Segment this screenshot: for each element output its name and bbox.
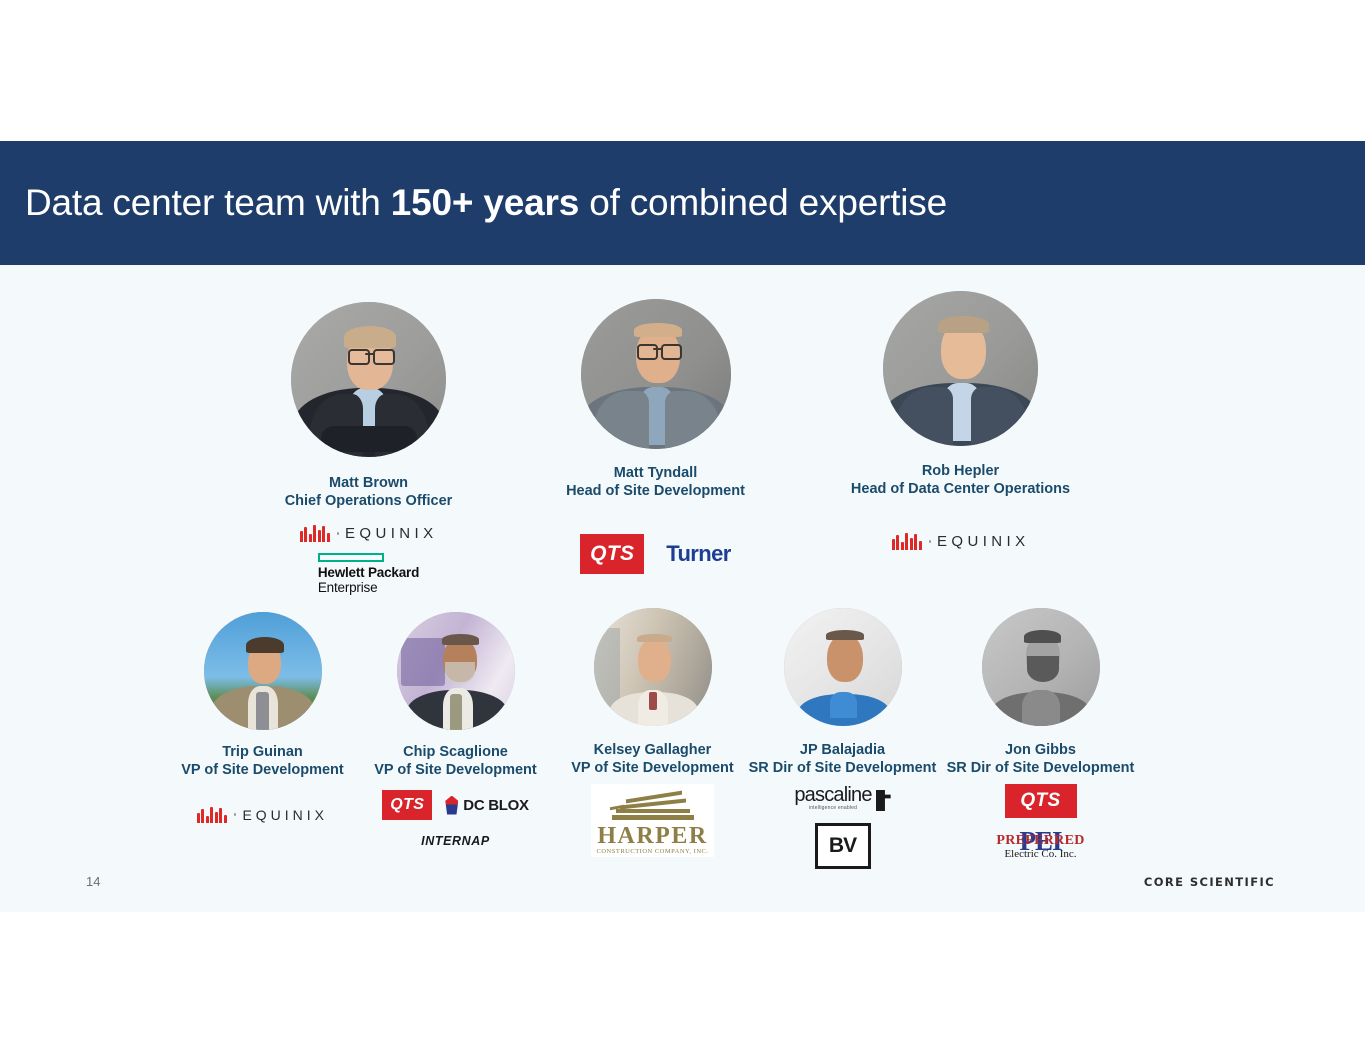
person-role: Chief Operations Officer: [256, 493, 481, 511]
qts-logo: QTS: [580, 534, 644, 574]
logo-row: INTERNAP: [421, 834, 490, 848]
equinix-dot-icon: [337, 532, 340, 535]
turner-logo: Turner: [666, 541, 730, 567]
equinix-wordmark: EQUINIX: [345, 525, 437, 542]
harper-subtext: CONSTRUCTION COMPANY, INC.: [597, 848, 709, 855]
avatar-matt-brown: [291, 302, 446, 457]
logo-row: QTS Turner: [580, 534, 730, 574]
page-title: Data center team with 150+ years of comb…: [0, 182, 947, 224]
hpe-line2: Enterprise: [318, 581, 419, 596]
logo-group-chip-scaglione: QTS DC BLOX INTERNAP: [343, 790, 568, 848]
equinix-logo: EQUINIX: [197, 806, 328, 823]
logo-row: EQUINIX: [300, 525, 438, 542]
logo-row: BV: [815, 823, 871, 869]
bv-wordmark: BV: [829, 834, 856, 858]
slide: Data center team with 150+ years of comb…: [0, 0, 1365, 1055]
logo-group-matt-tyndall: QTS Turner: [543, 534, 768, 574]
harper-building-icon: [610, 787, 696, 823]
hpe-line1: Hewlett Packard: [318, 566, 419, 581]
avatar-chip-scaglione: [397, 612, 515, 730]
equinix-mark-icon: [300, 525, 330, 542]
qts-wordmark: QTS: [590, 542, 634, 566]
title-band: Data center team with 150+ years of comb…: [0, 141, 1365, 265]
page-number: 14: [86, 874, 100, 889]
person-card-matt-brown: Matt Brown Chief Operations Officer: [256, 302, 481, 510]
person-name: Matt Brown: [256, 475, 481, 493]
bv-logo: BV: [815, 823, 871, 869]
person-name: Chip Scaglione: [343, 744, 568, 762]
avatar-kelsey-gallagher: [594, 608, 712, 726]
equinix-logo: EQUINIX: [892, 533, 1030, 550]
hpe-logo: Hewlett Packard Enterprise: [318, 553, 419, 595]
person-name: Trip Guinan: [150, 744, 375, 762]
harper-logo: HARPER CONSTRUCTION COMPANY, INC.: [591, 784, 715, 857]
logo-row: EQUINIX: [197, 806, 328, 823]
title-highlight: 150+ years: [391, 182, 579, 223]
person-name: Rob Hepler: [848, 463, 1073, 481]
bottom-gutter: [0, 912, 1365, 1055]
person-role: VP of Site Development: [343, 762, 568, 780]
qts-logo: QTS: [1005, 784, 1077, 818]
person-name: Jon Gibbs: [928, 742, 1153, 760]
person-card-matt-tyndall: Matt Tyndall Head of Site Development: [543, 299, 768, 500]
pascaline-wordmark: pascaline: [794, 786, 871, 805]
person-role: SR Dir of Site Development: [730, 760, 955, 778]
person-card-rob-hepler: Rob Hepler Head of Data Center Operation…: [848, 291, 1073, 498]
internap-logo: INTERNAP: [421, 834, 490, 848]
preferred-electric-logo: PEI PREFERRED Electric Co. Inc.: [996, 828, 1084, 860]
hpe-mark-icon: [318, 553, 384, 562]
logo-row: QTS: [1005, 784, 1077, 818]
dcblox-mark-icon: [445, 796, 458, 815]
logo-row: HARPER CONSTRUCTION COMPANY, INC.: [591, 784, 715, 857]
equinix-mark-icon: [197, 806, 227, 823]
avatar-rob-hepler: [883, 291, 1038, 446]
logo-row: pascaline intelligence enabled: [794, 786, 890, 811]
avatar-matt-tyndall: [581, 299, 731, 449]
equinix-wordmark: EQUINIX: [937, 533, 1029, 550]
logo-row: PEI PREFERRED Electric Co. Inc.: [996, 828, 1084, 860]
equinix-logo: EQUINIX: [300, 525, 438, 542]
logo-group-matt-brown: EQUINIX Hewlett Packard Enterprise: [256, 525, 481, 595]
avatar-jp-balajadia: [784, 608, 902, 726]
person-role: Head of Site Development: [543, 483, 768, 501]
person-role: SR Dir of Site Development: [928, 760, 1153, 778]
logo-row: QTS DC BLOX: [382, 790, 528, 820]
harper-wordmark: HARPER: [597, 824, 709, 848]
pascaline-logo: pascaline intelligence enabled: [794, 786, 890, 811]
person-role: Head of Data Center Operations: [848, 481, 1073, 499]
equinix-dot-icon: [929, 540, 932, 543]
title-prefix: Data center team with: [25, 182, 391, 223]
person-card-jp-balajadia: JP Balajadia SR Dir of Site Development: [730, 608, 955, 777]
avatar-jon-gibbs: [982, 608, 1100, 726]
preferred-wordmark: PREFERRED: [996, 834, 1084, 848]
equinix-mark-icon: [892, 533, 922, 550]
logo-group-trip-guinan: EQUINIX: [150, 806, 375, 823]
person-card-chip-scaglione: Chip Scaglione VP of Site Development: [343, 612, 568, 779]
equinix-wordmark: EQUINIX: [242, 807, 328, 823]
dcblox-wordmark: DC BLOX: [463, 797, 528, 814]
qts-wordmark: QTS: [390, 796, 424, 814]
logo-group-jon-gibbs: QTS PEI PREFERRED Electric Co. Inc.: [928, 784, 1153, 860]
person-role: VP of Site Development: [150, 762, 375, 780]
logo-group-jp-balajadia: pascaline intelligence enabled BV: [730, 786, 955, 869]
qts-logo: QTS: [382, 790, 432, 820]
logo-row: EQUINIX: [892, 533, 1030, 550]
avatar-trip-guinan: [204, 612, 322, 730]
person-card-jon-gibbs: Jon Gibbs SR Dir of Site Development: [928, 608, 1153, 777]
person-card-trip-guinan: Trip Guinan VP of Site Development: [150, 612, 375, 779]
title-suffix: of combined expertise: [579, 182, 947, 223]
dcblox-logo: DC BLOX: [445, 796, 528, 815]
equinix-dot-icon: [234, 813, 237, 816]
logo-group-rob-hepler: EQUINIX: [848, 533, 1073, 550]
pascaline-mark-icon: [876, 790, 891, 811]
person-name: Matt Tyndall: [543, 465, 768, 483]
person-name: JP Balajadia: [730, 742, 955, 760]
qts-wordmark: QTS: [1020, 790, 1060, 812]
top-gutter: [0, 0, 1365, 141]
logo-row: Hewlett Packard Enterprise: [318, 553, 419, 595]
core-scientific-logo: CORE SCIENTIFIC: [1144, 875, 1275, 889]
